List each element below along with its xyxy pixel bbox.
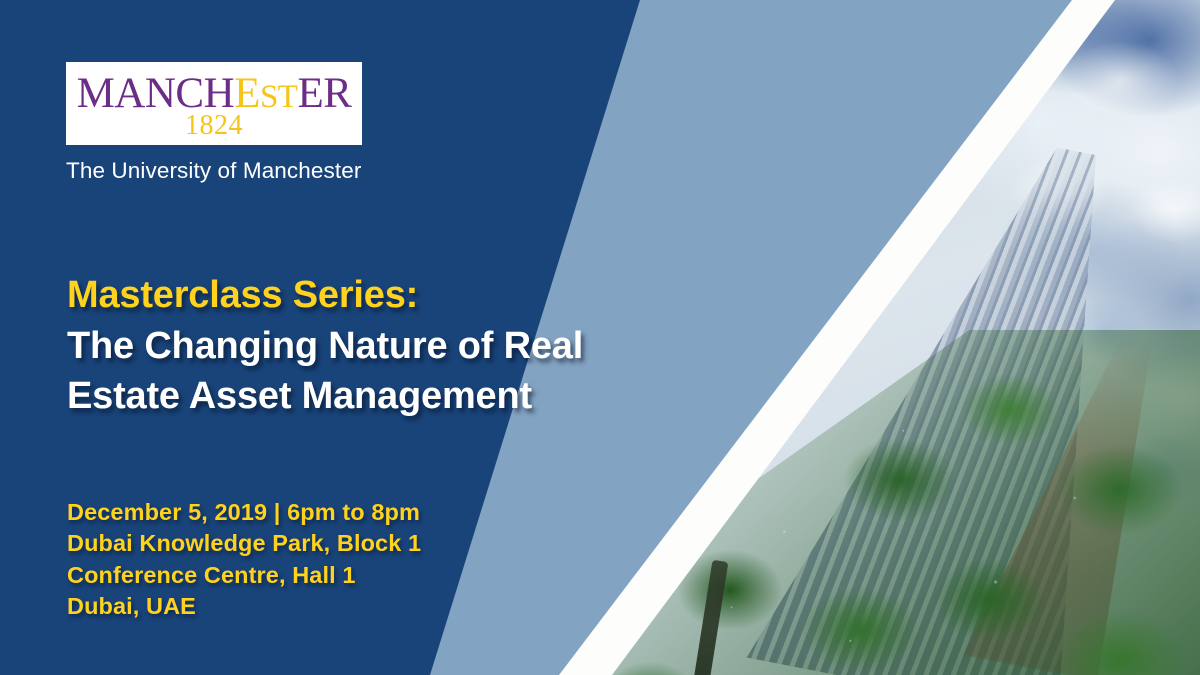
event-city: Dubai, UAE	[67, 591, 627, 622]
event-details-block: December 5, 2019 | 6pm to 8pm Dubai Know…	[67, 497, 627, 622]
event-title-block: Masterclass Series: The Changing Nature …	[67, 270, 667, 422]
wordmark-er: ER	[297, 70, 351, 117]
event-date-time: December 5, 2019 | 6pm to 8pm	[67, 497, 627, 528]
event-banner: MANCHESTER 1824 The University of Manche…	[0, 0, 1200, 675]
event-venue-line-2: Conference Centre, Hall 1	[67, 560, 627, 591]
university-name: The University of Manchester	[66, 158, 362, 184]
series-label: Masterclass Series:	[67, 270, 667, 321]
university-logo-block: MANCHESTER 1824 The University of Manche…	[66, 62, 362, 184]
event-title-line-2: Estate Asset Management	[67, 371, 667, 422]
event-venue-line-1: Dubai Knowledge Park, Block 1	[67, 528, 627, 559]
logo-white-box: MANCHESTER 1824	[66, 62, 362, 145]
wordmark-st: ST	[260, 79, 298, 115]
event-title-line-1: The Changing Nature of Real	[67, 321, 667, 372]
founded-year: 1824	[185, 112, 243, 140]
manchester-wordmark: MANCHESTER	[77, 72, 352, 115]
